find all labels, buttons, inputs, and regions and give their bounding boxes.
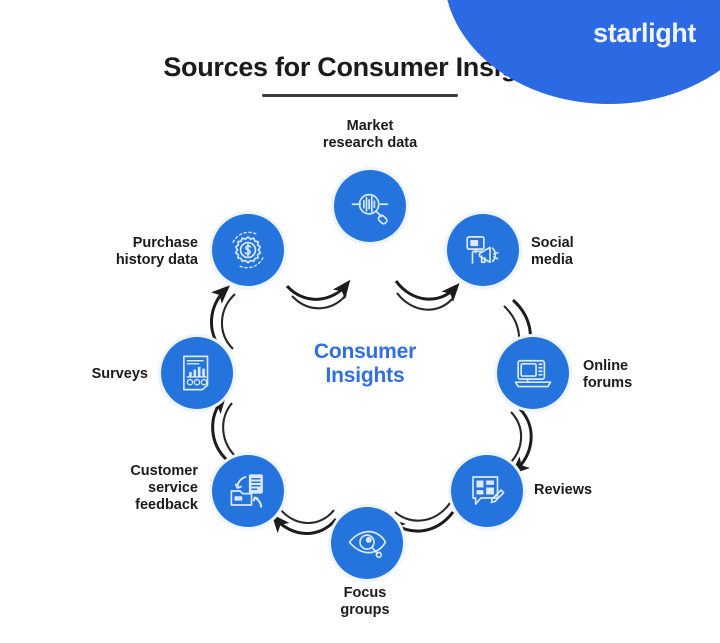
- node-label-reviews: Reviews: [534, 482, 674, 499]
- node-circle-surveys[interactable]: [161, 337, 233, 409]
- megaphone-screen-icon: [462, 229, 504, 271]
- node-circle-online-forums[interactable]: [497, 337, 569, 409]
- report-chart-icon: [176, 352, 218, 394]
- node-circle-reviews[interactable]: [451, 455, 523, 527]
- node-label-purchase-history-data: Purchase history data: [58, 235, 198, 269]
- node-label-surveys: Surveys: [30, 366, 148, 383]
- node-circle-focus-groups[interactable]: [331, 507, 403, 579]
- eye-magnifier-icon: [346, 522, 388, 564]
- desktop-computer-icon: [512, 352, 554, 394]
- node-label-online-forums: Online forums: [583, 358, 713, 392]
- node-circle-purchase-history-data[interactable]: [212, 214, 284, 286]
- center-label-line1: Consumer: [280, 340, 450, 364]
- node-label-focus-groups: Focus groups: [300, 585, 430, 619]
- arrow-forums-to-reviews: [515, 409, 531, 471]
- node-circle-social-media[interactable]: [447, 214, 519, 286]
- node-label-customer-service-feedback: Customer service feedback: [52, 463, 198, 513]
- infographic-canvas: starlight Sources for Consumer Insights: [0, 0, 720, 643]
- node-label-social-media: Social media: [531, 235, 661, 269]
- center-label: Consumer Insights: [280, 340, 450, 388]
- arrow-market-to-social: [396, 281, 456, 299]
- center-label-line2: Insights: [280, 364, 450, 388]
- node-circle-market-research-data[interactable]: [334, 170, 406, 242]
- arrow-customer-to-surveys: [213, 399, 228, 461]
- magnifier-waveform-icon: [349, 185, 391, 227]
- brand-wordmark: starlight: [593, 18, 696, 49]
- folder-checklist-icon: [227, 470, 269, 512]
- arrow-purchase-to-market: [287, 284, 347, 299]
- node-label-market-research-data: Market research data: [300, 118, 440, 152]
- arrow-focus-to-customer: [275, 518, 336, 534]
- title-underline: [262, 94, 458, 97]
- node-circle-customer-service-feedback[interactable]: [212, 455, 284, 527]
- speech-bubble-pencil-icon: [466, 470, 508, 512]
- gear-dollar-icon: [227, 229, 269, 271]
